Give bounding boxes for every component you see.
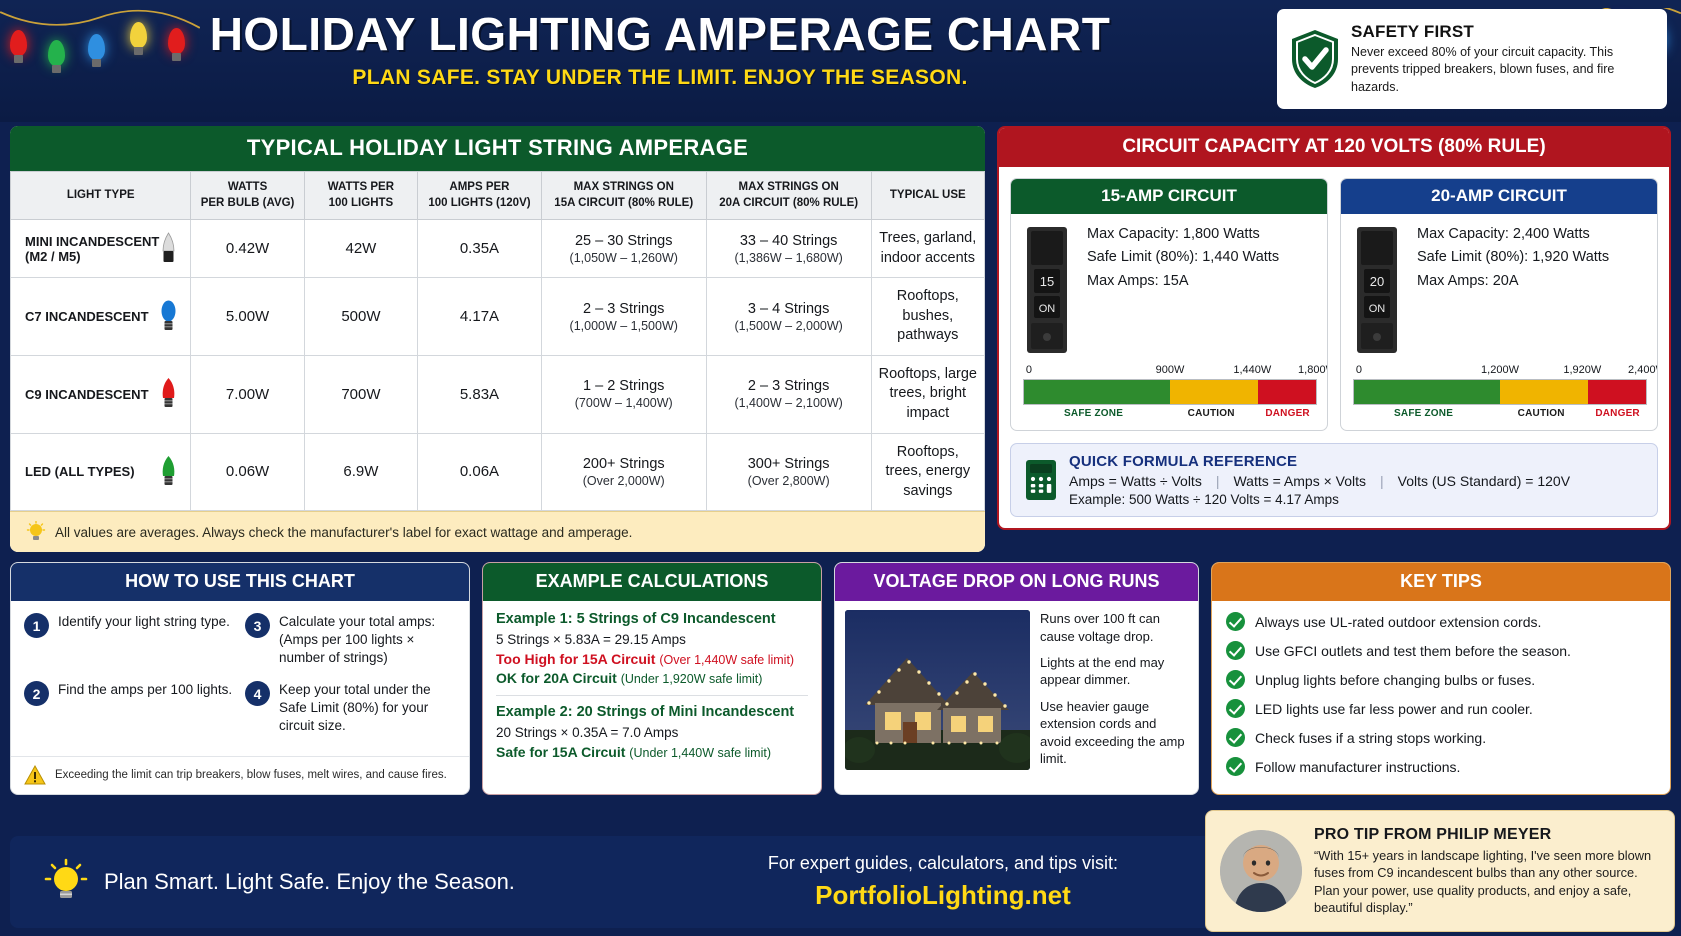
formula-row: Amps = Watts ÷ Volts | Watts = Amps × Vo… (1069, 473, 1570, 489)
example-heading: Example 2: 20 Strings of Mini Incandesce… (496, 704, 808, 720)
c9-bulb-icon (159, 377, 178, 411)
danger-zone-segment (1258, 380, 1316, 404)
capacity-circuits: 15-AMP CIRCUIT 15 ON (999, 167, 1669, 439)
col-label: MAX STRINGS ON (711, 180, 867, 196)
cell-amps-100: 0.06A (418, 433, 542, 511)
cell-light-type: LED (ALL TYPES) (11, 433, 191, 511)
formula-amps: Amps = Watts ÷ Volts (1069, 473, 1202, 489)
key-tip-text: Always use UL-rated outdoor extension co… (1255, 614, 1541, 630)
max-amps-15a: Max Amps: 15A (1087, 270, 1317, 293)
check-circle-icon (1226, 612, 1245, 631)
col-light-type: LIGHT TYPE (11, 172, 191, 220)
max-amps-20a: Max Amps: 20A (1417, 270, 1647, 293)
max-watts-20a: (1,386W – 1,680W) (713, 251, 865, 265)
safety-heading: SAFETY FIRST (1351, 22, 1655, 42)
meter-15a-labels: SAFE ZONE CAUTION DANGER (1023, 408, 1317, 422)
formula-watts: Watts = Amps × Volts (1233, 473, 1366, 489)
cell-light-type: C7 INCANDESCENT (11, 278, 191, 356)
max-strings-15a: 200+ Strings (583, 456, 665, 472)
step-text: Identify your light string type. (58, 613, 230, 631)
table-note-bar: All values are averages. Always check th… (10, 511, 985, 552)
check-circle-icon (1226, 670, 1245, 689)
cell-amps-100: 0.35A (418, 220, 542, 278)
max-strings-20a: 3 – 4 Strings (748, 301, 829, 317)
how-to-warning: Exceeding the limit can trip breakers, b… (11, 756, 469, 794)
meter-20a-ticks: 0 1,200W 1,920W 2,400W (1353, 364, 1647, 379)
circuit-20a-specs: Max Capacity: 2,400 Watts Safe Limit (80… (1417, 223, 1647, 358)
example-ok: OK for 20A Circuit (Under 1,920W safe li… (496, 670, 808, 686)
header: HOLIDAY LIGHTING AMPERAGE CHART PLAN SAF… (0, 0, 1681, 122)
tick: 1,920W (1563, 364, 1601, 376)
col-sublabel: 15A CIRCUIT (80% RULE) (546, 196, 702, 212)
led-bulb-icon (159, 455, 178, 489)
table-note-text: All values are averages. Always check th… (55, 525, 632, 540)
col-amps-100: AMPS PER 100 LIGHTS (120V) (418, 172, 542, 220)
ok-label: Safe for 15A Circuit (496, 744, 625, 760)
svg-text:20: 20 (1370, 274, 1384, 289)
pro-tip-quote: “With 15+ years in landscape lighting, I… (1314, 847, 1660, 917)
calculator-icon (1024, 458, 1058, 502)
examples-title: EXAMPLE CALCULATIONS (483, 563, 821, 601)
formula-heading: QUICK FORMULA REFERENCE (1069, 453, 1570, 470)
voltage-drop-p1: Runs over 100 ft can cause voltage drop. (1040, 610, 1188, 645)
caution-zone-segment (1500, 380, 1588, 404)
max-capacity-20a: Max Capacity: 2,400 Watts (1417, 223, 1647, 246)
safe-zone-segment (1024, 380, 1170, 404)
cell-watts-100: 700W (304, 355, 417, 433)
pro-tip-heading: PRO TIP FROM PHILIP MEYER (1314, 826, 1660, 844)
safe-zone-segment (1354, 380, 1500, 404)
max-strings-15a: 25 – 30 Strings (575, 233, 673, 249)
circuit-20a-body: 20 ON Max Capacity: 2,400 Watts Safe Lim… (1341, 214, 1657, 364)
key-tips-list: Always use UL-rated outdoor extension co… (1212, 601, 1670, 794)
example-calc-line: 20 Strings × 0.35A = 7.0 Amps (496, 725, 808, 740)
key-tip-item: Check fuses if a string stops working. (1226, 728, 1656, 747)
mini-bulb-icon (159, 232, 178, 266)
formula-divider: | (1216, 473, 1220, 489)
amperage-table: LIGHT TYPE WATTS PER BULB (AVG) WATTS PE… (10, 171, 985, 511)
meter-15a-bar (1023, 379, 1317, 405)
tick: 2,400W (1628, 364, 1658, 376)
c7-bulb-icon (159, 300, 178, 334)
caution-zone-segment (1170, 380, 1258, 404)
zone-label-safe: SAFE ZONE (1064, 408, 1123, 419)
example-calculations-panel: EXAMPLE CALCULATIONS Example 1: 5 String… (482, 562, 822, 795)
step-number: 2 (24, 681, 49, 706)
table-row: C7 INCANDESCENT 5.00W 500W 4.17A (11, 278, 985, 356)
breaker-15a-icon: 15 ON (1021, 223, 1077, 358)
quick-formula-reference: QUICK FORMULA REFERENCE Amps = Watts ÷ V… (1010, 443, 1658, 517)
step-number: 1 (24, 613, 49, 638)
bulb-icon (88, 34, 105, 60)
too-high-note: (Over 1,440W safe limit) (659, 653, 794, 667)
max-strings-15a: 2 – 3 Strings (583, 301, 664, 317)
infographic-page: HOLIDAY LIGHTING AMPERAGE CHART PLAN SAF… (0, 0, 1681, 936)
lightbulb-icon (44, 858, 88, 906)
zone-label-caution: CAUTION (1188, 408, 1235, 419)
col-label: WATTS (195, 180, 299, 196)
check-circle-icon (1226, 699, 1245, 718)
max-watts-20a: (1,400W – 2,100W) (713, 396, 865, 410)
col-sublabel: PER BULB (AVG) (195, 196, 299, 212)
voltage-drop-body: Runs over 100 ft can cause voltage drop.… (835, 601, 1198, 785)
table-row: MINI INCANDESCENT (M2 / M5) 0.42W 42W 0.… (11, 220, 985, 278)
key-tips-title: KEY TIPS (1212, 563, 1670, 601)
table-title: TYPICAL HOLIDAY LIGHT STRING AMPERAGE (10, 126, 985, 171)
cell-max-15a: 200+ Strings (Over 2,000W) (541, 433, 706, 511)
cell-max-15a: 1 – 2 Strings (700W – 1,400W) (541, 355, 706, 433)
examples-body: Example 1: 5 Strings of C9 Incandescent … (483, 601, 821, 768)
meter-15a-ticks: 0 900W 1,440W 1,800W (1023, 364, 1317, 379)
cell-typical-use: Rooftops, trees, energy savings (871, 433, 984, 511)
zone-label-safe: SAFE ZONE (1394, 408, 1453, 419)
check-circle-icon (1226, 757, 1245, 776)
bulb-icon (48, 40, 65, 66)
cell-max-15a: 25 – 30 Strings (1,050W – 1,260W) (541, 220, 706, 278)
safety-body: Never exceed 80% of your circuit capacit… (1351, 44, 1655, 96)
svg-text:ON: ON (1369, 303, 1386, 315)
how-to-step: 3 Calculate your total amps: (Amps per 1… (245, 613, 456, 667)
col-watts-100: WATTS PER 100 LIGHTS (304, 172, 417, 220)
example-calc-line: 5 Strings × 5.83A = 29.15 Amps (496, 632, 808, 647)
max-strings-20a: 300+ Strings (748, 456, 830, 472)
top-row: TYPICAL HOLIDAY LIGHT STRING AMPERAGE LI… (10, 126, 1671, 552)
ok-note: (Under 1,920W safe limit) (621, 672, 763, 686)
key-tip-text: Use GFCI outlets and test them before th… (1255, 643, 1571, 659)
table-body: MINI INCANDESCENT (M2 / M5) 0.42W 42W 0.… (11, 220, 985, 511)
col-max-15a: MAX STRINGS ON 15A CIRCUIT (80% RULE) (541, 172, 706, 220)
zone-label-caution: CAUTION (1518, 408, 1565, 419)
example-item: Example 1: 5 Strings of C9 Incandescent … (496, 611, 808, 686)
max-strings-20a: 2 – 3 Strings (748, 378, 829, 394)
cell-typical-use: Rooftops, large trees, bright impact (871, 355, 984, 433)
cell-max-15a: 2 – 3 Strings (1,000W – 1,500W) (541, 278, 706, 356)
meter-15a: 0 900W 1,440W 1,800W SAFE (1011, 364, 1327, 430)
how-to-step: 4 Keep your total under the Safe Limit (… (245, 681, 456, 735)
meter-20a-bar (1353, 379, 1647, 405)
page-title: HOLIDAY LIGHTING AMPERAGE CHART (180, 10, 1140, 58)
cell-max-20a: 33 – 40 Strings (1,386W – 1,680W) (706, 220, 871, 278)
cell-max-20a: 300+ Strings (Over 2,800W) (706, 433, 871, 511)
col-typical-use: TYPICAL USE (871, 172, 984, 220)
svg-text:15: 15 (1040, 274, 1054, 289)
voltage-drop-title: VOLTAGE DROP ON LONG RUNS (835, 563, 1198, 601)
step-text: Keep your total under the Safe Limit (80… (279, 681, 456, 735)
key-tip-text: LED lights use far less power and run co… (1255, 701, 1533, 717)
col-sublabel: 100 LIGHTS (120V) (422, 196, 537, 212)
ok-label: OK for 20A Circuit (496, 670, 617, 686)
check-circle-icon (1226, 641, 1245, 660)
danger-zone-segment (1588, 380, 1646, 404)
cell-watts-bulb: 0.42W (191, 220, 304, 278)
tick: 1,800W (1298, 364, 1328, 376)
cell-watts-bulb: 7.00W (191, 355, 304, 433)
example-item: Example 2: 20 Strings of Mini Incandesce… (496, 704, 808, 760)
tick: 900W (1156, 364, 1185, 376)
cell-watts-100: 6.9W (304, 433, 417, 511)
capacity-title: CIRCUIT CAPACITY AT 120 VOLTS (80% RULE) (999, 128, 1669, 167)
circuit-15a: 15-AMP CIRCUIT 15 ON (1010, 178, 1328, 431)
pro-tip-card: PRO TIP FROM PHILIP MEYER “With 15+ year… (1205, 810, 1675, 932)
cell-amps-100: 4.17A (418, 278, 542, 356)
how-to-step: 2 Find the amps per 100 lights. (24, 681, 235, 735)
voltage-drop-p3: Use heavier gauge extension cords and av… (1040, 698, 1188, 768)
formula-volts: Volts (US Standard) = 120V (1398, 473, 1570, 489)
example-heading: Example 1: 5 Strings of C9 Incandescent (496, 611, 808, 627)
max-capacity-15a: Max Capacity: 1,800 Watts (1087, 223, 1317, 246)
step-number: 3 (245, 613, 270, 638)
max-watts-15a: (1,050W – 1,260W) (548, 251, 700, 265)
warning-triangle-icon (24, 765, 46, 785)
max-watts-15a: (700W – 1,400W) (548, 396, 700, 410)
max-watts-15a: (1,000W – 1,500W) (548, 319, 700, 333)
ok-note: (Under 1,440W safe limit) (629, 746, 771, 760)
step-text: Calculate your total amps: (Amps per 100… (279, 613, 456, 667)
shield-check-icon (1289, 28, 1341, 90)
formula-example: Example: 500 Watts ÷ 120 Volts = 4.17 Am… (1069, 492, 1570, 507)
circuit-20a-title: 20-AMP CIRCUIT (1341, 179, 1657, 214)
cell-watts-100: 500W (304, 278, 417, 356)
too-high-label: Too High for 15A Circuit (496, 651, 655, 667)
zone-label-danger: DANGER (1265, 408, 1310, 419)
key-tip-text: Check fuses if a string stops working. (1255, 730, 1486, 746)
string-lights-left (0, 0, 200, 70)
col-label: LIGHT TYPE (15, 188, 186, 204)
bulb-icon (130, 22, 147, 48)
lightbulb-icon (26, 521, 46, 543)
person-photo (1220, 830, 1302, 912)
max-strings-15a: 1 – 2 Strings (583, 378, 664, 394)
cell-amps-100: 5.83A (418, 355, 542, 433)
body-area: TYPICAL HOLIDAY LIGHT STRING AMPERAGE LI… (0, 122, 1681, 795)
col-label: TYPICAL USE (876, 188, 980, 204)
voltage-drop-panel: VOLTAGE DROP ON LONG RUNS (834, 562, 1199, 795)
key-tip-item: Use GFCI outlets and test them before th… (1226, 641, 1656, 660)
step-number: 4 (245, 681, 270, 706)
circuit-15a-title: 15-AMP CIRCUIT (1011, 179, 1327, 214)
example-too-high: Too High for 15A Circuit (Over 1,440W sa… (496, 651, 808, 667)
max-watts-15a: (Over 2,000W) (548, 474, 700, 488)
check-circle-icon (1226, 728, 1245, 747)
examples-divider (496, 695, 808, 696)
col-label: WATTS PER (309, 180, 413, 196)
key-tip-text: Unplug lights before changing bulbs or f… (1255, 672, 1535, 688)
tick: 1,200W (1481, 364, 1519, 376)
safety-first-box: SAFETY FIRST Never exceed 80% of your ci… (1277, 9, 1667, 109)
circuit-15a-body: 15 ON Max Capacity: 1,800 Watts Safe Lim… (1011, 214, 1327, 364)
tick: 1,440W (1233, 364, 1271, 376)
meter-20a: 0 1,200W 1,920W 2,400W SA (1341, 364, 1657, 430)
cell-watts-bulb: 5.00W (191, 278, 304, 356)
circuit-15a-specs: Max Capacity: 1,800 Watts Safe Limit (80… (1087, 223, 1317, 358)
col-sublabel: 20A CIRCUIT (80% RULE) (711, 196, 867, 212)
safe-limit-20a: Safe Limit (80%): 1,920 Watts (1417, 246, 1647, 269)
col-label: MAX STRINGS ON (546, 180, 702, 196)
step-text: Find the amps per 100 lights. (58, 681, 232, 699)
cell-max-20a: 2 – 3 Strings (1,400W – 2,100W) (706, 355, 871, 433)
key-tips-panel: KEY TIPS Always use UL-rated outdoor ext… (1211, 562, 1671, 795)
meter-20a-labels: SAFE ZONE CAUTION DANGER (1353, 408, 1647, 422)
max-watts-20a: (1,500W – 2,000W) (713, 319, 865, 333)
safe-limit-15a: Safe Limit (80%): 1,440 Watts (1087, 246, 1317, 269)
col-label: AMPS PER (422, 180, 537, 196)
how-to-use-panel: HOW TO USE THIS CHART 1 Identify your li… (10, 562, 470, 795)
col-max-20a: MAX STRINGS ON 20A CIRCUIT (80% RULE) (706, 172, 871, 220)
breaker-20a-icon: 20 ON (1351, 223, 1407, 358)
formula-divider: | (1380, 473, 1384, 489)
table-row: LED (ALL TYPES) 0.06W 6.9W 0.06A (11, 433, 985, 511)
key-tip-item: Follow manufacturer instructions. (1226, 757, 1656, 776)
table-header-row: LIGHT TYPE WATTS PER BULB (AVG) WATTS PE… (11, 172, 985, 220)
circuit-capacity-card: CIRCUIT CAPACITY AT 120 VOLTS (80% RULE)… (997, 126, 1671, 530)
col-watts-bulb: WATTS PER BULB (AVG) (191, 172, 304, 220)
how-to-step: 1 Identify your light string type. (24, 613, 235, 667)
key-tip-text: Follow manufacturer instructions. (1255, 759, 1460, 775)
header-title-wrap: HOLIDAY LIGHTING AMPERAGE CHART PLAN SAF… (180, 10, 1140, 90)
avatar (1220, 830, 1302, 912)
footer-tagline: Plan Smart. Light Safe. Enjoy the Season… (104, 869, 515, 895)
example-ok: Safe for 15A Circuit (Under 1,440W safe … (496, 744, 808, 760)
cell-watts-bulb: 0.06W (191, 433, 304, 511)
amperage-table-card: TYPICAL HOLIDAY LIGHT STRING AMPERAGE LI… (10, 126, 985, 552)
key-tip-item: Always use UL-rated outdoor extension co… (1226, 612, 1656, 631)
key-tip-item: LED lights use far less power and run co… (1226, 699, 1656, 718)
voltage-drop-text: Runs over 100 ft can cause voltage drop.… (1040, 610, 1188, 776)
cell-typical-use: Rooftops, bushes, pathways (871, 278, 984, 356)
warning-text: Exceeding the limit can trip breakers, b… (55, 769, 447, 781)
circuit-20a: 20-AMP CIRCUIT 20 ON (1340, 178, 1658, 431)
tick: 0 (1356, 364, 1362, 376)
pro-tip-text: PRO TIP FROM PHILIP MEYER “With 15+ year… (1314, 826, 1660, 917)
table-row: C9 INCANDESCENT 7.00W 700W 5.83A (11, 355, 985, 433)
house-illustration (845, 610, 1030, 770)
cell-max-20a: 3 – 4 Strings (1,500W – 2,000W) (706, 278, 871, 356)
cell-light-type: C9 INCANDESCENT (11, 355, 191, 433)
cell-light-type: MINI INCANDESCENT (M2 / M5) (11, 220, 191, 278)
how-to-steps: 1 Identify your light string type. 3 Cal… (11, 601, 469, 753)
tick: 0 (1026, 364, 1032, 376)
cell-watts-100: 42W (304, 220, 417, 278)
max-watts-20a: (Over 2,800W) (713, 474, 865, 488)
bulb-icon (10, 30, 27, 56)
svg-text:ON: ON (1039, 303, 1056, 315)
cell-typical-use: Trees, garland, indoor accents (871, 220, 984, 278)
key-tip-item: Unplug lights before changing bulbs or f… (1226, 670, 1656, 689)
max-strings-20a: 33 – 40 Strings (740, 233, 838, 249)
page-subtitle: PLAN SAFE. STAY UNDER THE LIMIT. ENJOY T… (180, 66, 1140, 90)
voltage-drop-p2: Lights at the end may appear dimmer. (1040, 654, 1188, 689)
middle-row: HOW TO USE THIS CHART 1 Identify your li… (10, 562, 1671, 795)
decorated-house-photo (845, 610, 1030, 770)
zone-label-danger: DANGER (1595, 408, 1640, 419)
how-to-title: HOW TO USE THIS CHART (11, 563, 469, 601)
col-sublabel: 100 LIGHTS (309, 196, 413, 212)
